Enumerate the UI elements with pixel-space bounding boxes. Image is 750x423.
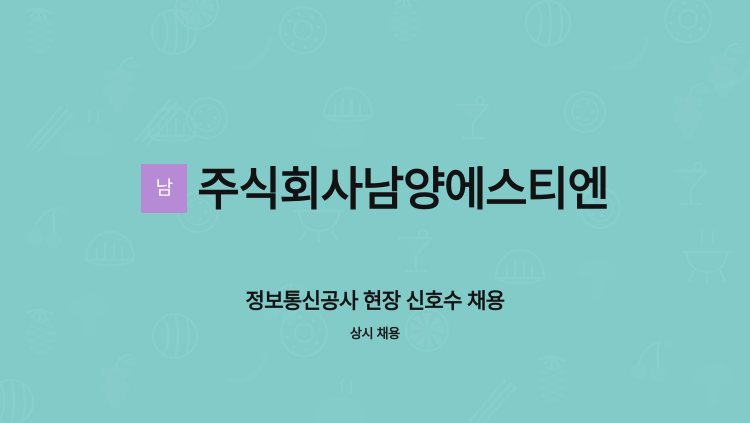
job-position-title: 정보통신공사 현장 신호수 채용	[245, 289, 504, 314]
recruitment-period: 상시 채용	[350, 326, 400, 342]
banner-content: 남 주식회사남양에스티엔 정보통신공사 현장 신호수 채용 상시 채용	[0, 0, 750, 423]
job-posting-banner: 남 주식회사남양에스티엔 정보통신공사 현장 신호수 채용 상시 채용	[0, 0, 750, 423]
company-initial-text: 남	[156, 179, 173, 198]
company-name: 주식회사남양에스티엔	[197, 165, 608, 213]
company-initial-badge: 남	[141, 164, 187, 213]
company-title-row: 남 주식회사남양에스티엔	[141, 134, 608, 244]
